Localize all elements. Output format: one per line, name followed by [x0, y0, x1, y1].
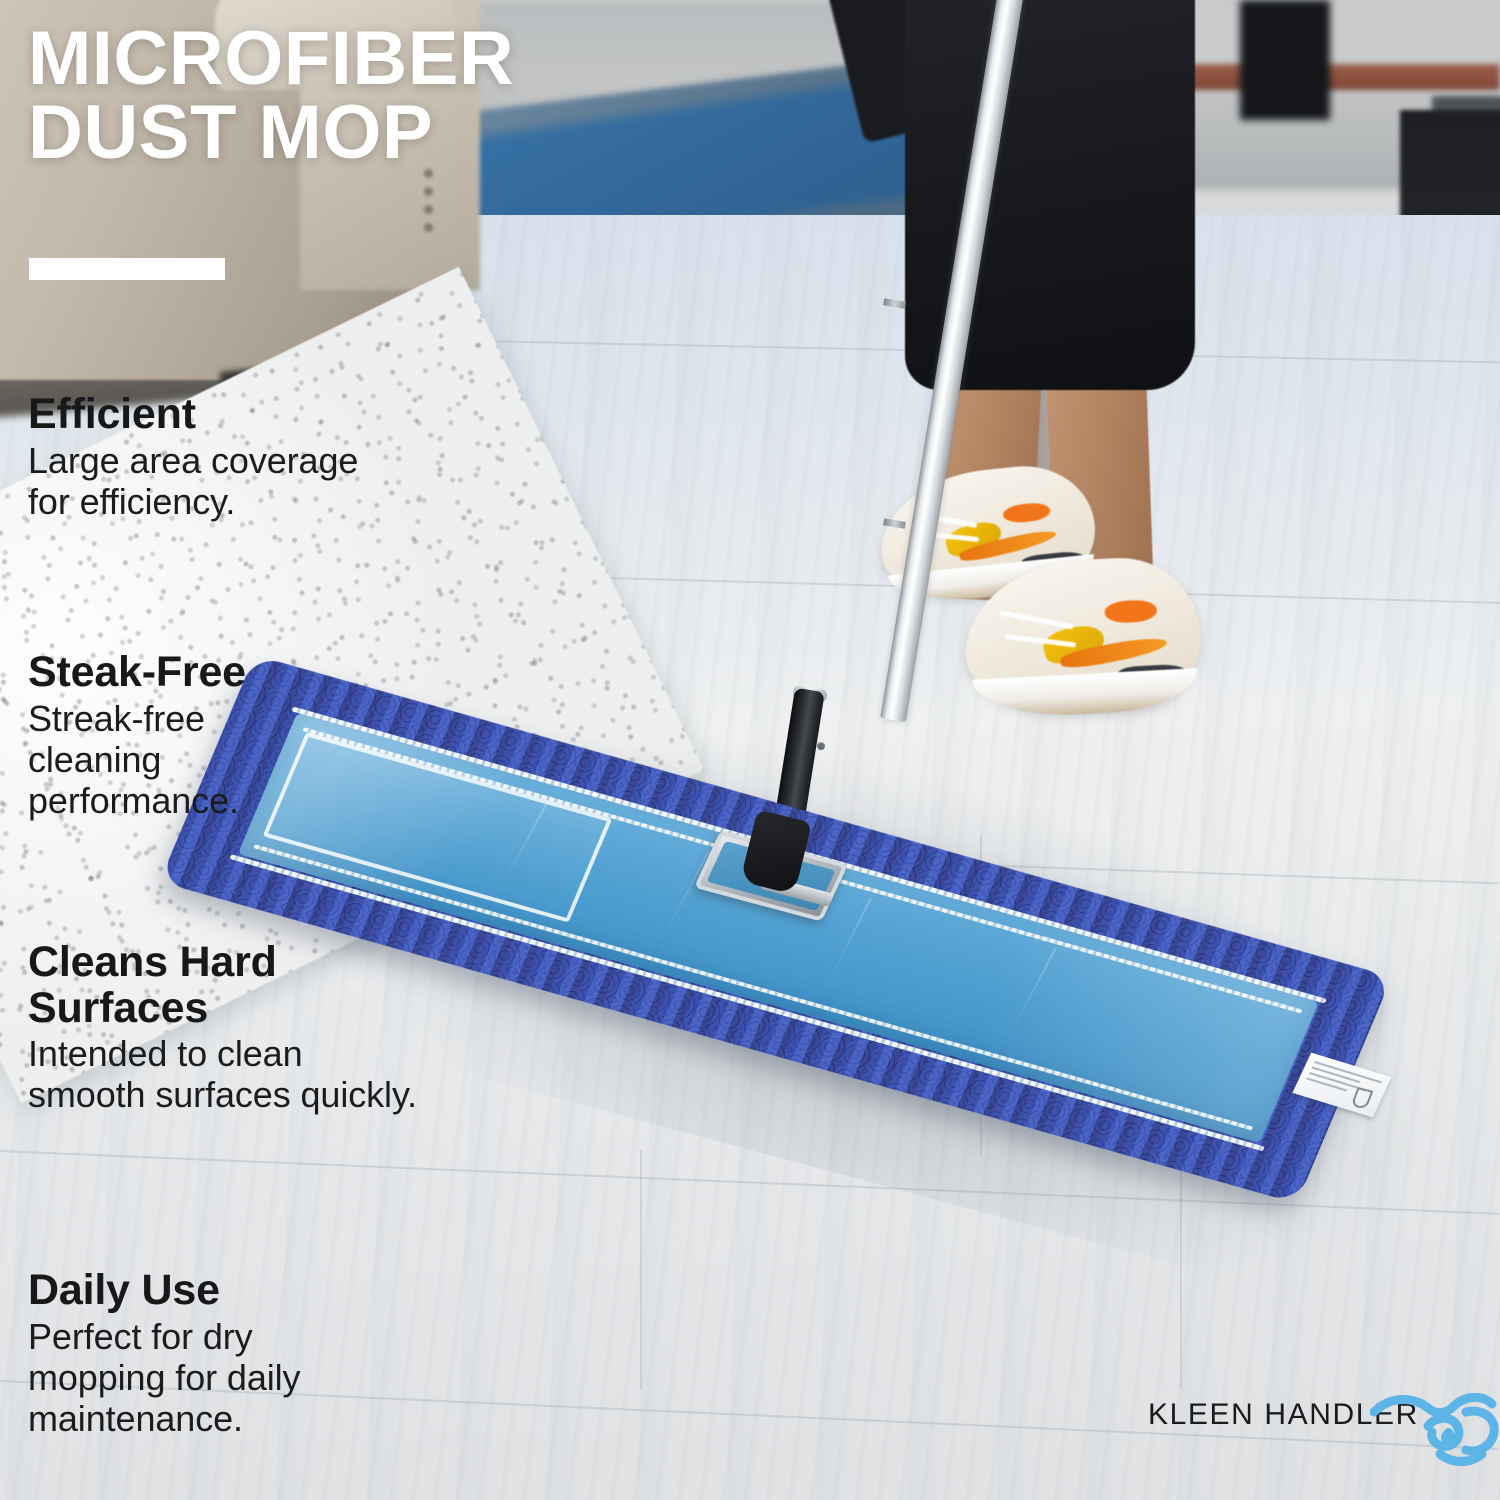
feature-block-cleans-hard-surfaces: Cleans Hard Surfaces Intended to clean s… [28, 940, 417, 1115]
feature-body: Intended to clean smooth surfaces quickl… [28, 1033, 417, 1115]
feature-block-daily-use: Daily Use Perfect for dry mopping for da… [28, 1268, 300, 1439]
page-title: MICROFIBER DUST MOP [28, 22, 514, 171]
feature-heading: Cleans Hard Surfaces [28, 940, 417, 1031]
dark-furniture-back [1240, 0, 1330, 120]
floor-seam-vertical [640, 1150, 642, 1390]
feature-block-steak-free: Steak-Free Streak-free cleaning performa… [28, 650, 246, 821]
feature-body: Streak-free cleaning performance. [28, 698, 246, 821]
wall-panel [1180, 0, 1500, 70]
product-feature-image: MICROFIBER DUST MOP Efficient Large area… [0, 0, 1500, 1500]
title-underline-rule [29, 258, 225, 280]
feature-body: Perfect for dry mopping for daily mainte… [28, 1316, 300, 1439]
feature-heading: Daily Use [28, 1268, 300, 1314]
water-splash-swirl-icon [1370, 1382, 1500, 1482]
floor-seam-vertical [1180, 1150, 1182, 1390]
feature-block-efficient: Efficient Large area coverage for effici… [28, 392, 358, 522]
floor-seam-vertical [980, 835, 982, 1155]
feature-heading: Efficient [28, 392, 358, 438]
black-shorts [905, 0, 1195, 390]
feature-body: Large area coverage for efficiency. [28, 440, 358, 522]
sofa-tufting [410, 160, 470, 270]
right-sneaker [961, 554, 1204, 718]
baseboard [1180, 64, 1500, 90]
feature-heading: Steak-Free [28, 650, 246, 696]
